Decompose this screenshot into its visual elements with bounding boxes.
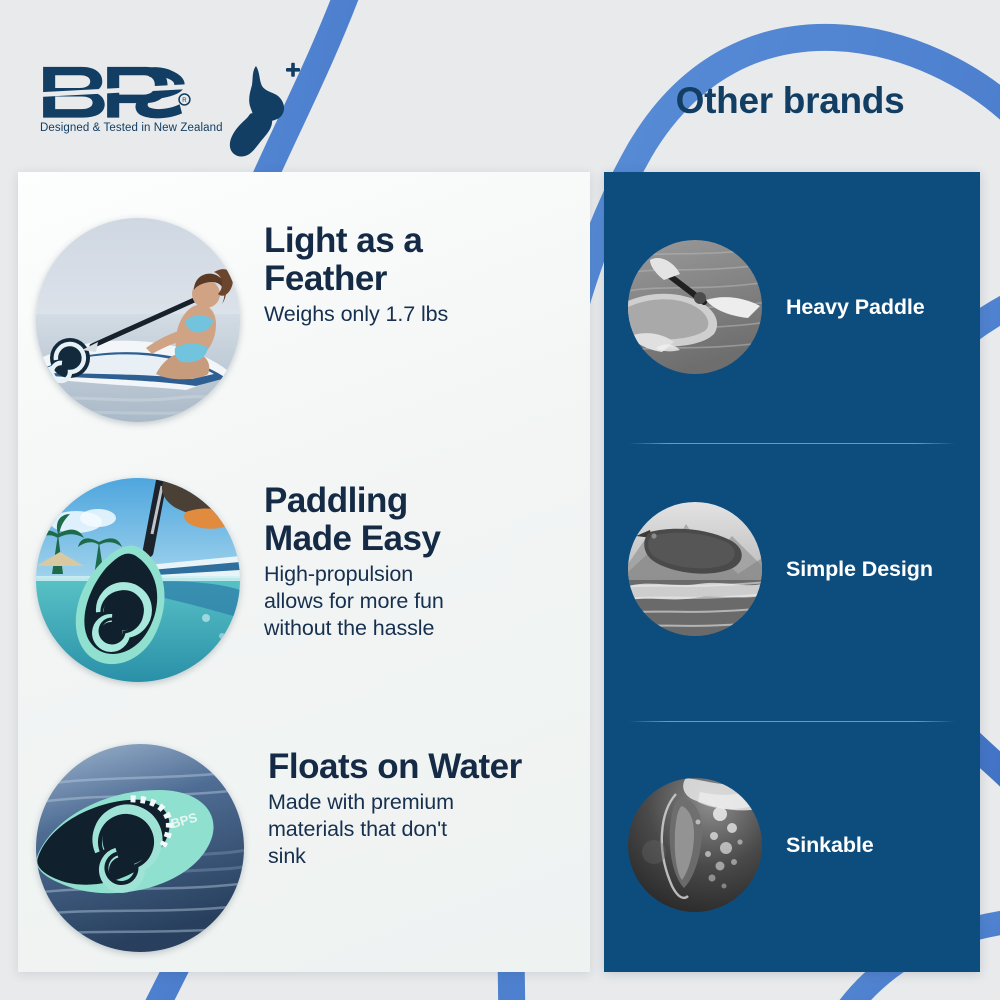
section-divider	[628, 721, 956, 722]
feature-heading: Floats on Water	[268, 748, 522, 786]
feature-description: Weighs only 1.7 lbs	[264, 301, 448, 328]
feature-heading: Light as a Feather	[264, 222, 448, 298]
other-brand-row-heavy-paddle: Heavy Paddle	[628, 240, 958, 374]
feature-description: High-propulsion allows for more fun with…	[264, 561, 444, 642]
feature-row-floats-on-water: BPS Floats on Water Made with premium ma…	[36, 744, 576, 952]
feature-description: Made with premium materials that don't s…	[268, 789, 522, 870]
other-brands-title: Other brands	[600, 80, 980, 122]
feature-row-paddling-made-easy: Paddling Made Easy High-propulsion allow…	[36, 478, 576, 682]
infographic-canvas: R Designed & Tested in New Zealand Other…	[0, 0, 1000, 1000]
other-brand-row-sinkable: Sinkable	[628, 778, 958, 912]
other-brand-image-sinkable	[628, 778, 762, 912]
bps-wordmark-icon: R	[38, 62, 198, 120]
other-brand-label: Simple Design	[786, 557, 933, 582]
feature-text-block: Paddling Made Easy High-propulsion allow…	[264, 478, 444, 643]
other-brand-row-simple-design: Simple Design	[628, 502, 958, 636]
brand-logo: R Designed & Tested in New Zealand	[38, 62, 298, 158]
svg-text:R: R	[182, 98, 187, 104]
new-zealand-map-icon	[226, 62, 302, 166]
feature-image-underwater-paddle	[36, 478, 240, 682]
section-divider	[628, 443, 956, 444]
feature-text-block: Light as a Feather Weighs only 1.7 lbs	[264, 218, 448, 328]
feature-image-paddleboarder	[36, 218, 240, 422]
feature-heading: Paddling Made Easy	[264, 482, 444, 558]
feature-image-floating-paddle: BPS	[36, 744, 244, 952]
logo-tagline: Designed & Tested in New Zealand	[40, 122, 223, 134]
bps-features-card: Light as a Feather Weighs only 1.7 lbs	[18, 172, 590, 972]
other-brand-image-heavy-paddle	[628, 240, 762, 374]
feature-text-block: Floats on Water Made with premium materi…	[268, 744, 522, 870]
other-brands-card: Heavy Paddle	[604, 172, 980, 972]
feature-row-light-as-a-feather: Light as a Feather Weighs only 1.7 lbs	[36, 218, 576, 422]
other-brand-image-simple-design	[628, 502, 762, 636]
other-brand-label: Sinkable	[786, 833, 874, 858]
other-brand-label: Heavy Paddle	[786, 295, 925, 320]
